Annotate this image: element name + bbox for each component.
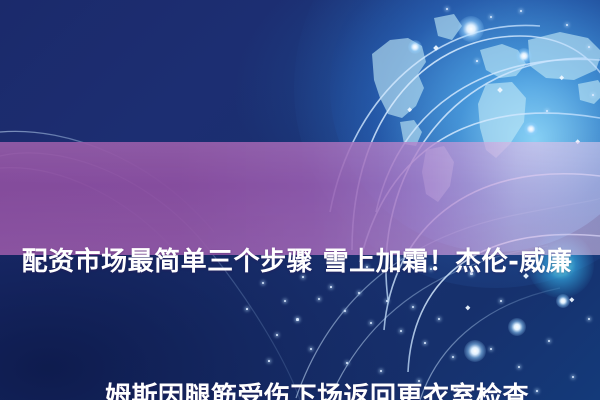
banner-image: 配资市场最简单三个步骤 雪上加霜！杰伦-威廉 姆斯因腿筋受伤下场返回更衣室检查 xyxy=(0,0,600,400)
headline-line-1: 配资市场最简单三个步骤 雪上加霜！杰伦-威廉 xyxy=(0,240,600,285)
headline-text: 配资市场最简单三个步骤 雪上加霜！杰伦-威廉 姆斯因腿筋受伤下场返回更衣室检查 xyxy=(0,150,600,400)
headline-line-2: 姆斯因腿筋受伤下场返回更衣室检查 xyxy=(0,375,600,400)
